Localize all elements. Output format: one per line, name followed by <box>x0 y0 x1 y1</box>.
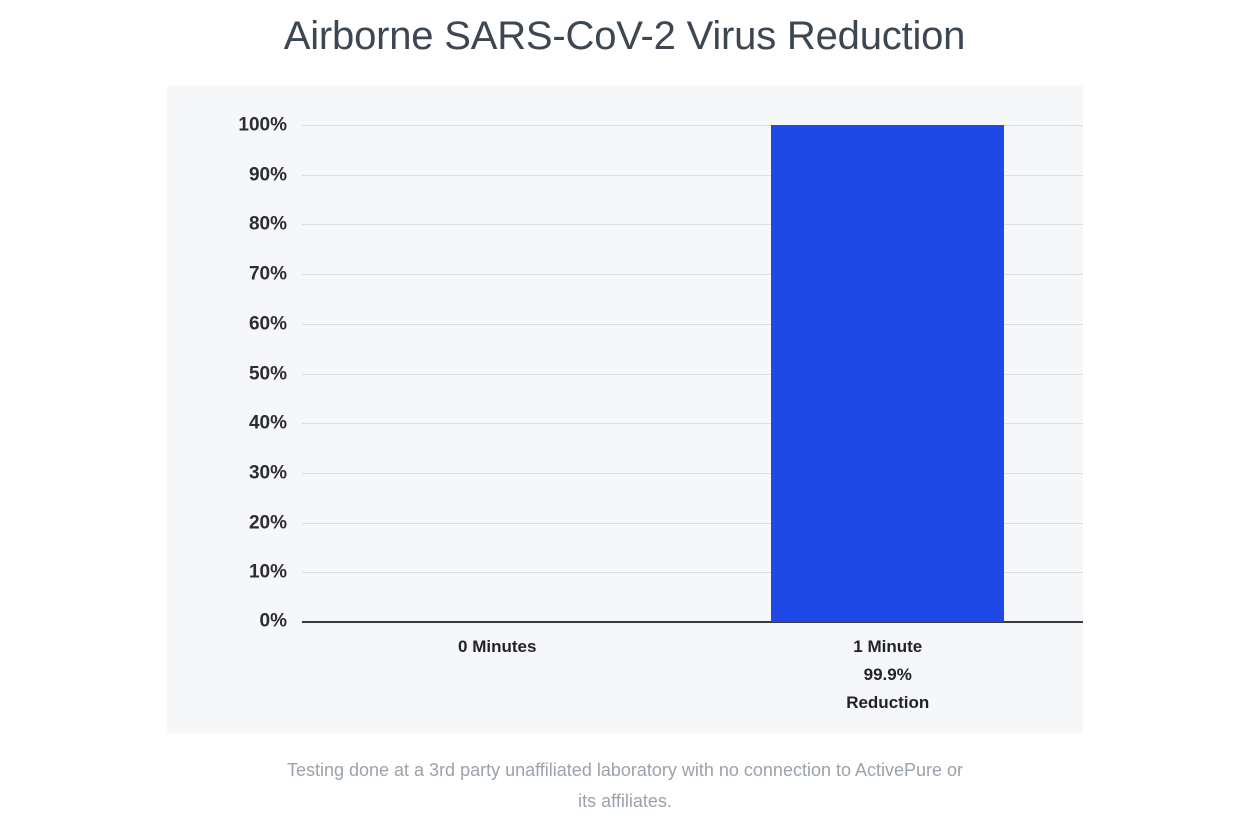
y-axis-tick-label: 90% <box>249 165 287 184</box>
y-axis-tick-label: 80% <box>249 215 287 234</box>
x-axis-tick-label-line: 0 Minutes <box>458 633 536 661</box>
plot-area: 100%90%80%70%60%50%40%30%20%10%0% <box>302 125 1083 622</box>
x-axis-labels: 0 Minutes1 Minute99.9%Reduction <box>167 633 1083 733</box>
y-axis-tick-label: 30% <box>249 463 287 482</box>
caption-line-1: Testing done at a 3rd party unaffiliated… <box>287 760 963 780</box>
x-axis-tick-label-line: 1 Minute <box>846 633 929 661</box>
y-axis-tick-label: 70% <box>249 265 287 284</box>
chart-page: Airborne SARS-CoV-2 Virus Reduction 100%… <box>0 0 1249 832</box>
bar <box>771 125 1004 622</box>
y-axis-tick-label: 10% <box>249 563 287 582</box>
y-axis-tick-label: 0% <box>260 612 287 631</box>
x-axis-tick-label: 1 Minute99.9%Reduction <box>846 633 929 717</box>
x-axis-tick-label: 0 Minutes <box>458 633 536 661</box>
x-axis-tick-label-line: 99.9% <box>846 661 929 689</box>
chart-caption: Testing done at a 3rd party unaffiliated… <box>175 755 1075 817</box>
y-axis-tick-label: 40% <box>249 414 287 433</box>
y-axis-tick-label: 50% <box>249 364 287 383</box>
bars-group <box>302 125 1083 622</box>
chart-title: Airborne SARS-CoV-2 Virus Reduction <box>0 10 1249 62</box>
x-axis-tick-label-line: Reduction <box>846 689 929 717</box>
y-axis-tick-label: 100% <box>238 116 287 135</box>
y-axis-tick-label: 60% <box>249 314 287 333</box>
caption-line-2: its affiliates. <box>578 791 672 811</box>
y-axis-tick-label: 20% <box>249 513 287 532</box>
